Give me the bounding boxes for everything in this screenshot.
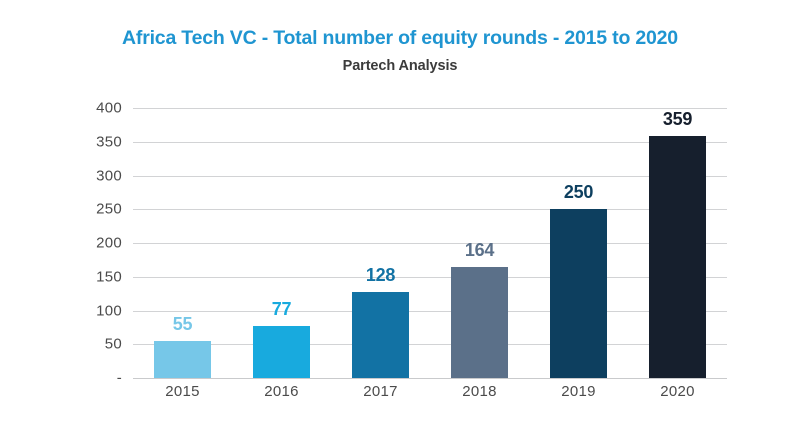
bar-group: 55 <box>133 108 232 378</box>
bar-value-label-2020: 359 <box>628 109 727 130</box>
bar-2016[interactable] <box>253 326 310 378</box>
bar-value-label-2018: 164 <box>430 240 529 261</box>
x-axis-tick-label-2015: 2015 <box>133 383 232 400</box>
bar-group: 359 <box>628 108 727 378</box>
bar-2020[interactable] <box>649 136 706 378</box>
bar-group: 164 <box>430 108 529 378</box>
y-axis-tick-label: 300 <box>62 167 122 184</box>
y-axis-tick-label: 150 <box>62 268 122 285</box>
bar-group: 128 <box>331 108 430 378</box>
x-axis: 201520162017201820192020 <box>133 383 727 409</box>
y-axis-tick-label: 100 <box>62 302 122 319</box>
gridline <box>133 378 727 379</box>
bar-value-label-2016: 77 <box>232 299 331 320</box>
x-axis-tick-label-2016: 2016 <box>232 383 331 400</box>
bar-2019[interactable] <box>550 209 607 378</box>
y-axis-tick-label: 200 <box>62 235 122 252</box>
plot-area: 5577128164250359 <box>133 108 727 378</box>
chart-title: Africa Tech VC - Total number of equity … <box>0 27 800 50</box>
bar-group: 77 <box>232 108 331 378</box>
bar-2017[interactable] <box>352 292 409 378</box>
y-axis-tick-label: - <box>62 370 122 387</box>
y-axis-tick-label: 250 <box>62 201 122 218</box>
chart-subtitle: Partech Analysis <box>0 58 800 74</box>
y-axis-tick-label: 350 <box>62 133 122 150</box>
chart-container: Africa Tech VC - Total number of equity … <box>0 0 800 427</box>
y-axis-tick-label: 400 <box>62 100 122 117</box>
y-axis-tick-label: 50 <box>62 336 122 353</box>
bar-value-label-2017: 128 <box>331 265 430 286</box>
y-axis: 40035030025020015010050- <box>60 108 122 378</box>
bar-group: 250 <box>529 108 628 378</box>
bar-2018[interactable] <box>451 267 508 378</box>
x-axis-tick-label-2017: 2017 <box>331 383 430 400</box>
bar-value-label-2015: 55 <box>133 314 232 335</box>
bar-2015[interactable] <box>154 341 211 378</box>
bar-value-label-2019: 250 <box>529 182 628 203</box>
x-axis-tick-label-2020: 2020 <box>628 383 727 400</box>
x-axis-tick-label-2018: 2018 <box>430 383 529 400</box>
x-axis-tick-label-2019: 2019 <box>529 383 628 400</box>
